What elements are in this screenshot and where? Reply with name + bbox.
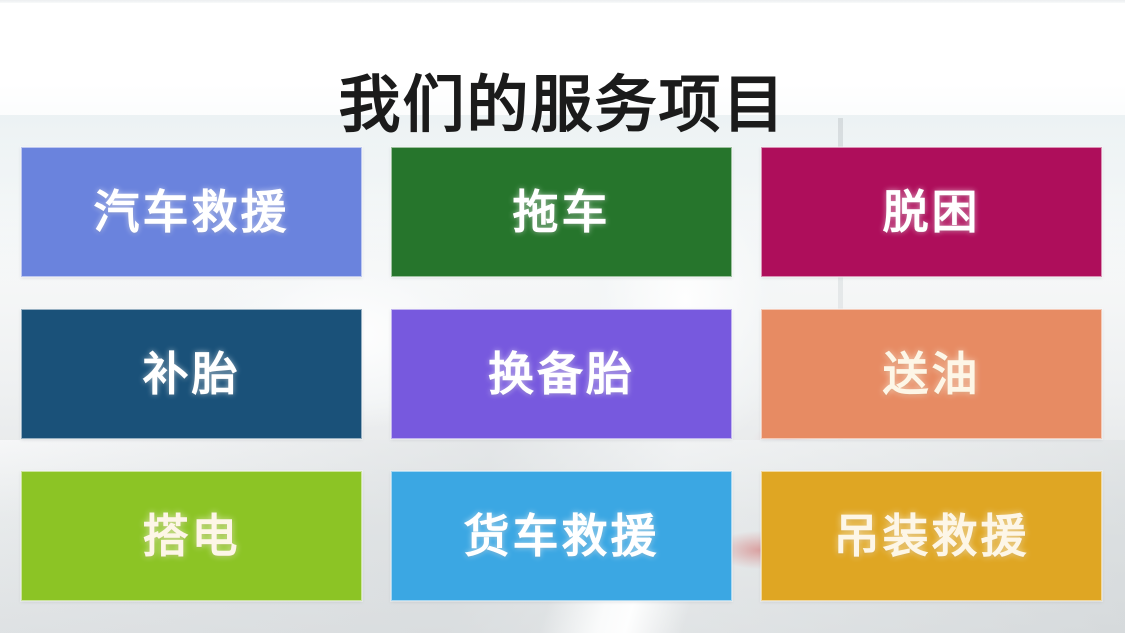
service-tile-label: 补胎 — [143, 348, 241, 400]
service-tile-towing[interactable]: 拖车 — [391, 147, 732, 277]
service-tile-jump-start[interactable]: 搭电 — [21, 471, 362, 601]
service-tile-label: 拖车 — [513, 186, 611, 238]
page-title: 我们的服务项目 — [0, 68, 1125, 142]
service-tile-label: 换备胎 — [488, 348, 635, 400]
service-tile-label: 送油 — [883, 348, 981, 400]
service-tile-spare-tire-change[interactable]: 换备胎 — [391, 309, 732, 439]
service-tile-label: 汽车救援 — [94, 186, 290, 238]
service-poster: 我们的服务项目 汽车救援 拖车 脱困 补胎 换备胎 送油 搭电 货车救援 吊装 — [0, 0, 1125, 633]
service-tile-label: 搭电 — [143, 510, 241, 562]
service-tile-truck-assistance[interactable]: 货车救援 — [391, 471, 732, 601]
service-tile-label: 货车救援 — [464, 510, 660, 562]
service-tile-roadside-assistance[interactable]: 汽车救援 — [21, 147, 362, 277]
service-tile-fuel-delivery[interactable]: 送油 — [761, 309, 1102, 439]
service-tile-tire-repair[interactable]: 补胎 — [21, 309, 362, 439]
service-tile-label: 脱困 — [883, 186, 981, 238]
service-tile-label: 吊装救援 — [834, 510, 1030, 562]
service-tile-crane-rescue[interactable]: 吊装救援 — [761, 471, 1102, 601]
service-tile-extraction[interactable]: 脱困 — [761, 147, 1102, 277]
service-tile-grid: 汽车救援 拖车 脱困 补胎 换备胎 送油 搭电 货车救援 吊装救援 — [21, 147, 1102, 601]
